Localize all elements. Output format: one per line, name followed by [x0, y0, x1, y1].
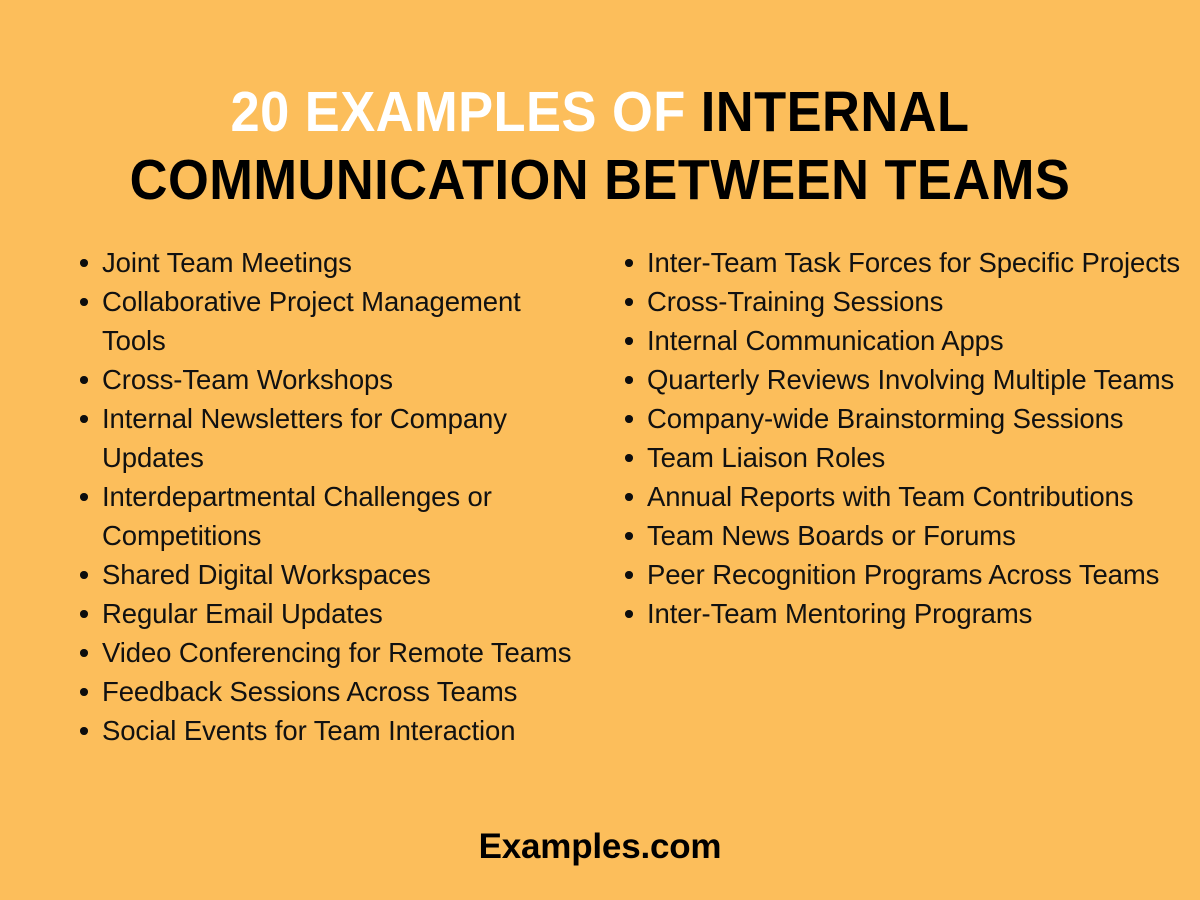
- list-item: Team Liaison Roles: [615, 438, 1185, 477]
- footer-brand: Examples.com: [0, 827, 1200, 867]
- title-highlight-text: 20 EXAMPLES OF: [230, 80, 700, 144]
- list-item: Inter-Team Task Forces for Specific Proj…: [615, 243, 1185, 282]
- list-item: Cross-Training Sessions: [615, 282, 1185, 321]
- list-item: Company-wide Brainstorming Sessions: [615, 399, 1185, 438]
- list-item: Internal Communication Apps: [615, 321, 1185, 360]
- list-item: Regular Email Updates: [70, 594, 582, 633]
- list-item: Feedback Sessions Across Teams: [70, 672, 582, 711]
- left-column-list: Joint Team Meetings Collaborative Projec…: [70, 243, 590, 750]
- right-column: Inter-Team Task Forces for Specific Proj…: [615, 243, 1185, 633]
- list-item: Internal Newsletters for Company Updates: [70, 399, 582, 477]
- title-line-1: 20 EXAMPLES OF INTERNAL: [48, 78, 1152, 146]
- list-item: Video Conferencing for Remote Teams: [70, 633, 582, 672]
- infographic-poster: 20 EXAMPLES OF INTERNAL COMMUNICATION BE…: [0, 0, 1200, 900]
- list-item: Inter-Team Mentoring Programs: [615, 594, 1185, 633]
- title-line-1-black: INTERNAL: [701, 80, 970, 144]
- title-line-2: COMMUNICATION BETWEEN TEAMS: [48, 146, 1152, 214]
- list-item: Shared Digital Workspaces: [70, 555, 582, 594]
- list-item: Quarterly Reviews Involving Multiple Tea…: [615, 360, 1185, 399]
- list-item: Annual Reports with Team Contributions: [615, 477, 1185, 516]
- list-item: Social Events for Team Interaction: [70, 711, 582, 750]
- list-item: Joint Team Meetings: [70, 243, 582, 282]
- list-item: Peer Recognition Programs Across Teams: [615, 555, 1185, 594]
- page-title: 20 EXAMPLES OF INTERNAL COMMUNICATION BE…: [0, 78, 1200, 214]
- examples-columns: Joint Team Meetings Collaborative Projec…: [0, 243, 1200, 813]
- list-item: Cross-Team Workshops: [70, 360, 582, 399]
- list-item: Collaborative Project Management Tools: [70, 282, 582, 360]
- right-column-list: Inter-Team Task Forces for Specific Proj…: [615, 243, 1185, 633]
- left-column: Joint Team Meetings Collaborative Projec…: [70, 243, 590, 750]
- list-item: Team News Boards or Forums: [615, 516, 1185, 555]
- list-item: Interdepartmental Challenges or Competit…: [70, 477, 582, 555]
